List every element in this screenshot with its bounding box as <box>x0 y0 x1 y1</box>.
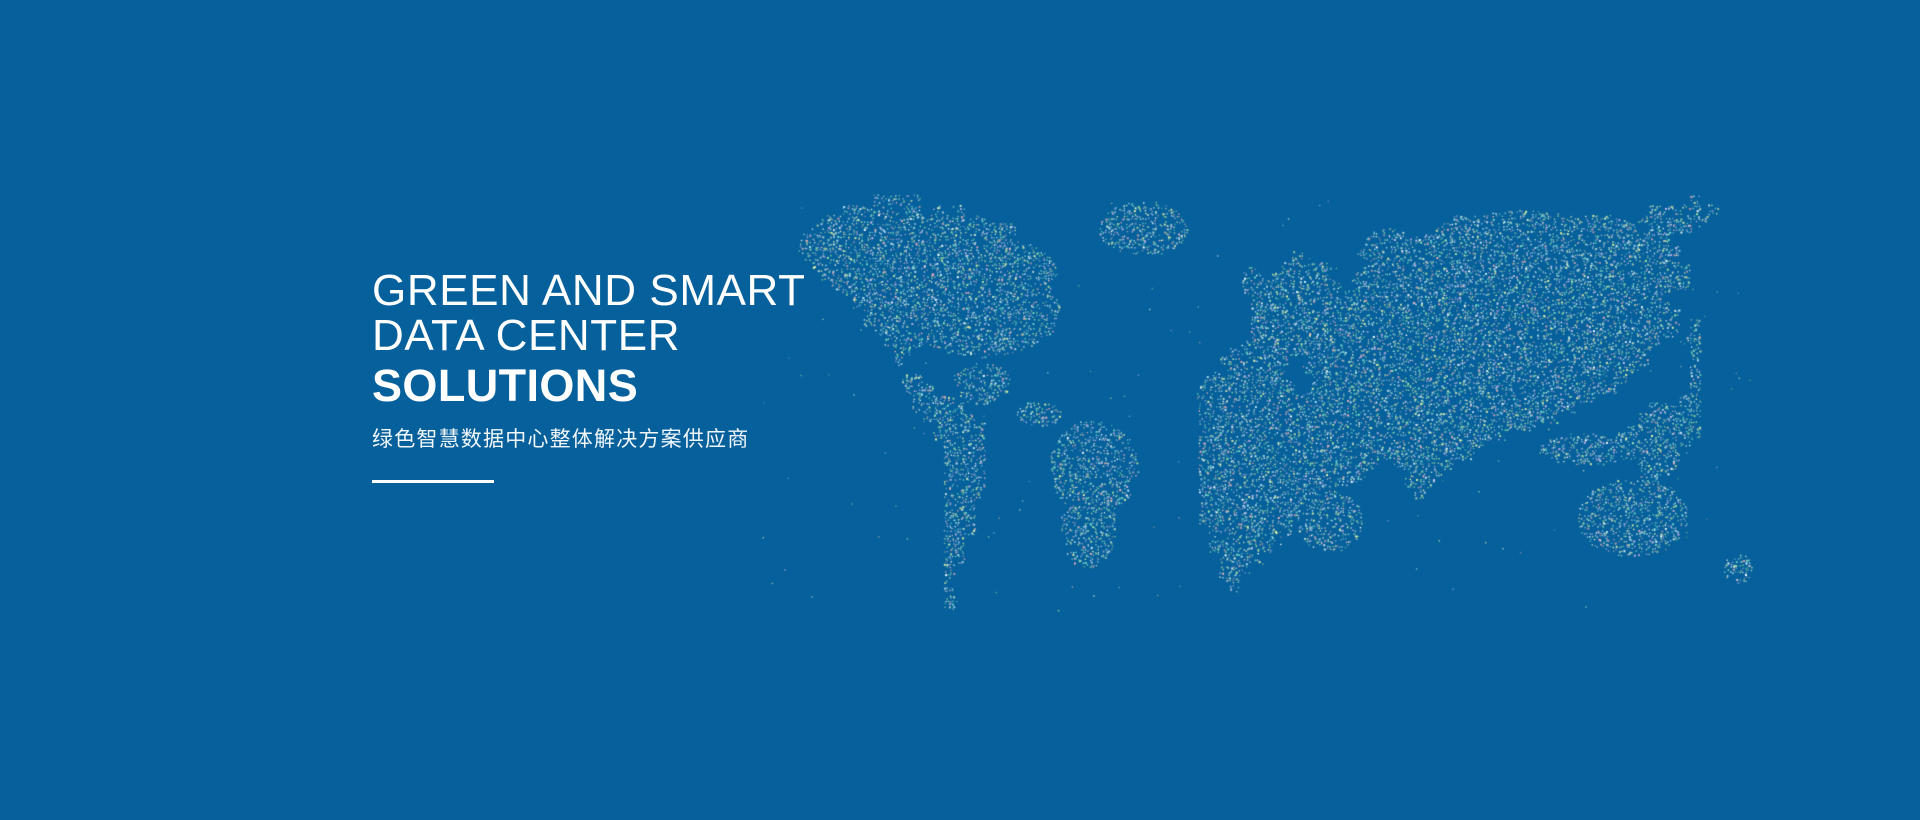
headline-line-1: GREEN AND SMART <box>372 268 932 313</box>
hero-banner: GREEN AND SMART DATA CENTER SOLUTIONS 绿色… <box>0 0 1920 820</box>
divider-rule <box>372 480 494 483</box>
subtitle-chinese: 绿色智慧数据中心整体解决方案供应商 <box>372 426 932 454</box>
headline-block: GREEN AND SMART DATA CENTER SOLUTIONS 绿色… <box>372 268 932 483</box>
world-map-graphic <box>0 0 1920 820</box>
world-map-canvas <box>0 0 1920 820</box>
headline-line-2: DATA CENTER <box>372 313 932 358</box>
headline-line-3: SOLUTIONS <box>372 360 932 412</box>
